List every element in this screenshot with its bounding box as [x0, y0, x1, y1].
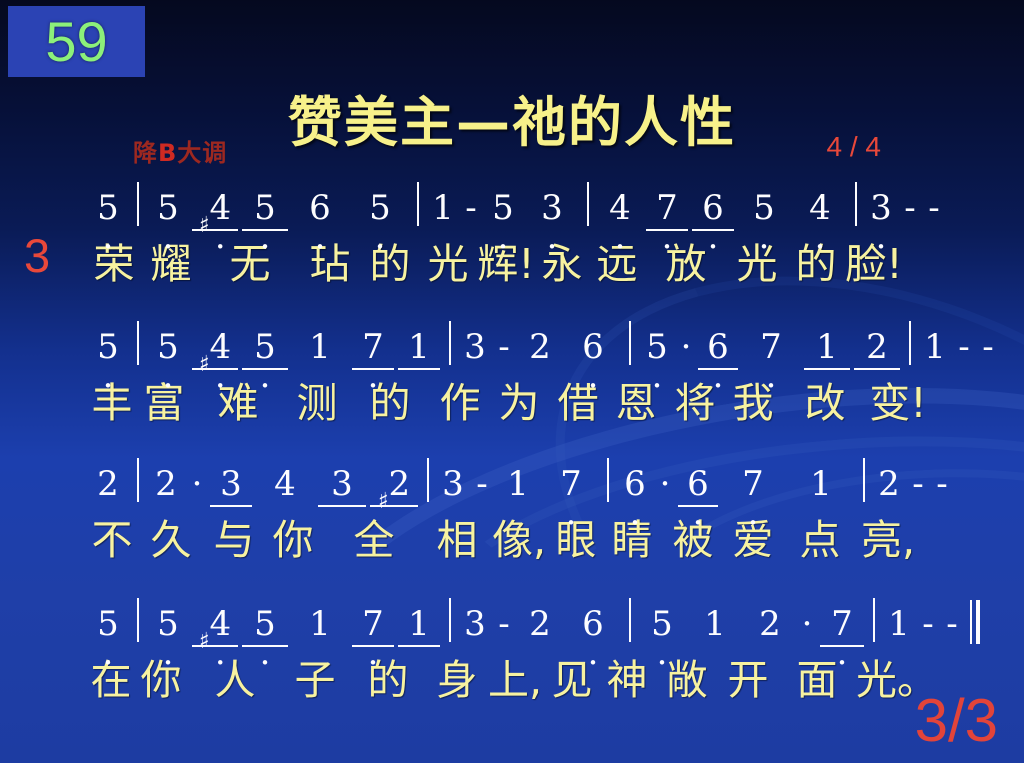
lyric-syllable: 的	[360, 230, 420, 290]
note-low-octave: 6	[702, 188, 724, 228]
barline	[137, 321, 139, 365]
note-low-octave: 4	[210, 188, 232, 228]
note-cell: 3	[524, 188, 580, 228]
note-low-octave: 5	[254, 327, 276, 367]
note-cell: -	[492, 327, 516, 367]
note-cell: 5	[240, 188, 290, 228]
note-cell: 1	[290, 604, 350, 644]
note-cell: ♯4	[190, 327, 240, 367]
note-cell: 5	[638, 327, 676, 367]
note-cell: 5	[350, 188, 410, 228]
note-cell: 6	[564, 604, 622, 644]
note-low-octave: 7	[760, 327, 782, 367]
note-low-octave: 7	[362, 604, 384, 644]
lyric-syllable: 开	[718, 646, 778, 706]
note-glyph: ·	[192, 464, 203, 504]
note-cell: 1	[426, 188, 460, 228]
time-signature-label: 4 / 4	[827, 131, 881, 163]
note-glyph: 1	[432, 188, 454, 228]
note-cell: 6	[564, 327, 622, 367]
lyric-syllable: 改	[782, 369, 868, 429]
note-low-octave: 6	[582, 327, 604, 367]
note-low-octave: 5	[157, 327, 179, 367]
lyric-syllable: 子	[284, 646, 346, 706]
note-glyph: 1	[810, 464, 832, 504]
note-cell: 1	[290, 327, 350, 367]
note-cell: 5	[240, 327, 290, 367]
barline	[137, 458, 139, 502]
note-low-octave: 3	[541, 188, 563, 228]
verse-number-label: 3	[24, 228, 50, 283]
note-low-octave: 6	[707, 327, 729, 367]
note-cell: -	[952, 327, 976, 367]
key-signature-letter: B	[158, 139, 177, 167]
note-glyph: 4	[274, 464, 296, 504]
barline	[607, 458, 609, 502]
note-cell: -	[460, 188, 482, 228]
note-glyph: 3	[442, 464, 464, 504]
note-glyph: 2	[389, 464, 411, 504]
music-system-3: 22·343♯23-176·6712-- 不久与你全相像,眼睛被爱点亮,	[86, 452, 954, 564]
beam-underline	[692, 229, 734, 231]
beam-underline	[192, 229, 238, 231]
note-cell: 5	[146, 604, 190, 644]
note-cell: 5	[482, 188, 524, 228]
note-glyph: 1	[408, 327, 430, 367]
note-glyph: -	[928, 188, 940, 228]
note-cell: -	[470, 464, 494, 504]
note-glyph: -	[922, 604, 934, 644]
note-cell: 5	[638, 604, 686, 644]
note-cell: -	[940, 604, 964, 644]
beam-underline	[352, 368, 394, 370]
note-glyph: -	[476, 464, 488, 504]
note-low-octave: 6	[687, 464, 709, 504]
note-glyph: -	[912, 464, 924, 504]
note-low-octave: 7	[742, 464, 764, 504]
note-low-octave: 4	[210, 327, 232, 367]
lyrics-row-3: 不久与你全相像,眼睛被爱点亮,	[86, 506, 954, 564]
note-cell: 3	[458, 327, 492, 367]
key-signature-label: 降B大调	[133, 133, 227, 168]
lyric-syllable: 的	[346, 646, 430, 706]
barline	[629, 598, 631, 642]
note-glyph: 1	[507, 464, 529, 504]
lyric-syllable: 难	[190, 369, 286, 429]
note-glyph: -	[946, 604, 958, 644]
beam-underline	[210, 505, 252, 507]
note-glyph: -	[936, 464, 948, 504]
page-number-text: 59	[45, 14, 107, 70]
note-low-octave: 5	[369, 188, 391, 228]
note-glyph: ·	[681, 327, 692, 367]
note-cell: 6	[690, 188, 736, 228]
note-cell: 1	[882, 604, 916, 644]
barline	[909, 321, 911, 365]
note-cell: 7	[350, 327, 396, 367]
barline	[137, 598, 139, 642]
note-low-octave: 7	[831, 604, 853, 644]
beam-underline	[192, 645, 238, 647]
page-number-badge: 59	[8, 6, 145, 77]
note-low-octave: 5	[97, 327, 119, 367]
note-cell: 4	[254, 464, 316, 504]
note-cell: 7	[644, 188, 690, 228]
note-glyph: 1	[704, 604, 726, 644]
barline	[427, 458, 429, 502]
note-glyph: -	[904, 188, 916, 228]
note-cell: 1	[494, 464, 542, 504]
slide-canvas: 59 赞美主—祂的人性 降B大调 4 / 4 3 55♯45651-534765…	[0, 0, 1024, 763]
note-cell: 4	[596, 188, 644, 228]
note-glyph: -	[982, 327, 994, 367]
note-low-octave: 5	[254, 604, 276, 644]
note-cell: 6	[616, 464, 654, 504]
note-glyph: -	[498, 327, 510, 367]
note-cell: 1	[786, 464, 856, 504]
note-low-octave: 4	[210, 604, 232, 644]
note-cell: 2	[744, 604, 796, 644]
note-low-octave: 3	[870, 188, 892, 228]
note-low-octave: 5	[97, 604, 119, 644]
note-cell: ·	[654, 464, 676, 504]
note-low-octave: 5	[157, 604, 179, 644]
note-cell: 7	[350, 604, 396, 644]
note-cell: 5	[86, 327, 130, 367]
note-low-octave: 5	[646, 327, 668, 367]
beam-underline	[854, 368, 900, 370]
note-glyph: 1	[888, 604, 910, 644]
note-glyph: 3	[220, 464, 242, 504]
note-low-octave: 7	[656, 188, 678, 228]
beam-underline	[242, 368, 288, 370]
note-cell: 2	[146, 464, 186, 504]
key-signature-suffix: 大调	[177, 139, 227, 167]
barline	[137, 182, 139, 226]
note-cell: 3	[864, 188, 898, 228]
note-low-octave: 4	[809, 188, 831, 228]
note-low-octave: 5	[254, 188, 276, 228]
lyric-syllable: 脸!	[844, 230, 904, 290]
note-low-octave: 7	[362, 327, 384, 367]
notation-row-2: 55♯451713-265·67121--	[86, 315, 954, 367]
music-system-2: 55♯451713-265·67121-- 丰富难测的作为借恩将我改变!	[86, 315, 954, 427]
barline	[873, 598, 875, 642]
note-cell: 2	[86, 464, 130, 504]
beam-underline	[370, 505, 418, 507]
note-cell: 5	[146, 188, 190, 228]
note-cell: 2	[872, 464, 906, 504]
note-glyph: -	[498, 604, 510, 644]
note-cell: -	[930, 464, 954, 504]
note-cell: -	[976, 327, 1000, 367]
note-cell: 5	[86, 604, 130, 644]
music-system-4: 55♯451713-26512·71-- 在你人子的身上,见神敞开面光。	[86, 592, 954, 704]
note-glyph: 1	[309, 604, 331, 644]
lyric-syllable: 你	[264, 506, 322, 566]
page-fraction-label: 3/3	[915, 686, 998, 755]
note-cell: ·	[796, 604, 818, 644]
beam-underline	[242, 645, 288, 647]
note-low-octave: 5	[97, 188, 119, 228]
beam-underline	[398, 368, 440, 370]
note-glyph: 3	[464, 327, 486, 367]
music-system-1: 55♯45651-53476543-- 荣耀无玷的光辉!永远放光的脸!	[86, 176, 954, 288]
beam-underline	[646, 229, 688, 231]
lyric-syllable: 的	[348, 369, 432, 429]
barline	[587, 182, 589, 226]
note-cell: 1	[802, 327, 852, 367]
note-cell: 5	[146, 327, 190, 367]
note-glyph: 1	[816, 327, 838, 367]
note-glyph: 3	[464, 604, 486, 644]
barline	[417, 182, 419, 226]
note-glyph: ·	[660, 464, 671, 504]
note-cell: 6	[696, 327, 740, 367]
beam-underline	[242, 229, 288, 231]
note-low-octave: 5	[651, 604, 673, 644]
notation-row-1: 55♯45651-53476543--	[86, 176, 954, 228]
lyric-syllable: 点	[782, 506, 858, 566]
note-glyph: 2	[529, 604, 551, 644]
note-glyph: 1	[408, 604, 430, 644]
lyric-syllable: 相	[426, 506, 488, 566]
note-cell: -	[492, 604, 516, 644]
lyric-syllable: 光	[420, 230, 476, 290]
note-glyph: 1	[309, 327, 331, 367]
lyric-syllable: 神	[598, 646, 656, 706]
note-low-octave: 6	[309, 188, 331, 228]
lyric-syllable: 测	[286, 369, 348, 429]
note-cell: -	[922, 188, 946, 228]
lyric-syllable: 光	[726, 230, 788, 290]
beam-underline	[398, 645, 440, 647]
note-glyph: 2	[759, 604, 781, 644]
barline	[449, 321, 451, 365]
note-glyph: ·	[802, 604, 813, 644]
note-cell: 4	[792, 188, 848, 228]
note-glyph: -	[958, 327, 970, 367]
note-glyph: 3	[331, 464, 353, 504]
lyric-syllable: 全	[322, 506, 426, 566]
note-cell: 3	[208, 464, 254, 504]
note-cell: 3	[316, 464, 368, 504]
note-cell: 7	[740, 327, 802, 367]
barline	[855, 182, 857, 226]
note-glyph: 2	[155, 464, 177, 504]
note-cell: -	[906, 464, 930, 504]
note-cell: 2	[852, 327, 902, 367]
note-cell: 1	[396, 604, 442, 644]
note-cell: 1	[686, 604, 744, 644]
note-low-octave: 5	[157, 188, 179, 228]
lyric-syllable: 作	[432, 369, 488, 429]
lyric-syllable: 你	[136, 646, 186, 706]
note-cell: 5	[86, 188, 130, 228]
barline	[863, 458, 865, 502]
note-cell: 6	[290, 188, 350, 228]
note-low-octave: 5	[492, 188, 514, 228]
beam-underline	[820, 645, 864, 647]
lyric-syllable: 永	[536, 230, 588, 290]
note-glyph: 2	[97, 464, 119, 504]
note-cell: 3	[436, 464, 470, 504]
barline	[629, 321, 631, 365]
lyric-syllable: 荣	[86, 230, 142, 290]
lyric-syllable: 光。	[856, 646, 916, 706]
note-cell: 7	[720, 464, 786, 504]
note-cell: 7	[818, 604, 866, 644]
lyric-syllable: 身	[430, 646, 484, 706]
lyric-syllable: 玷	[300, 230, 360, 290]
lyric-syllable: 上,	[484, 646, 546, 706]
beam-underline	[352, 645, 394, 647]
note-cell: ♯4	[190, 604, 240, 644]
note-glyph: 1	[924, 327, 946, 367]
note-cell: ·	[186, 464, 208, 504]
beam-underline	[192, 368, 238, 370]
lyric-syllable: 久	[138, 506, 204, 566]
notation-row-3: 22·343♯23-176·6712--	[86, 452, 954, 504]
lyric-syllable: 为	[488, 369, 550, 429]
note-cell: 2	[516, 604, 564, 644]
note-low-octave: 6	[582, 604, 604, 644]
note-low-octave: 5	[753, 188, 775, 228]
note-cell: -	[898, 188, 922, 228]
note-cell: 5	[736, 188, 792, 228]
note-glyph: -	[465, 188, 477, 228]
beam-underline	[804, 368, 850, 370]
final-barline	[970, 600, 980, 644]
note-low-octave: 7	[560, 464, 582, 504]
note-cell: ·	[676, 327, 696, 367]
note-cell: 6	[676, 464, 720, 504]
note-cell: 2	[516, 327, 564, 367]
beam-underline	[698, 368, 738, 370]
lyric-syllable: 像,	[488, 506, 550, 566]
note-cell: 3	[458, 604, 492, 644]
note-cell: 7	[542, 464, 600, 504]
note-cell: 1	[396, 327, 442, 367]
note-low-octave: 6	[624, 464, 646, 504]
lyric-syllable: 亮,	[858, 506, 918, 566]
note-glyph: 2	[866, 327, 888, 367]
note-glyph: 2	[878, 464, 900, 504]
note-cell: 5	[240, 604, 290, 644]
lyric-syllable: 不	[86, 506, 138, 566]
note-cell: 1	[918, 327, 952, 367]
notation-row-4: 55♯451713-26512·71--	[86, 592, 954, 644]
key-signature-prefix: 降	[133, 139, 158, 167]
note-low-octave: 4	[609, 188, 631, 228]
beam-underline	[678, 505, 718, 507]
note-cell: ♯4	[190, 188, 240, 228]
lyric-syllable: 变!	[868, 369, 928, 429]
lyric-syllable: 与	[204, 506, 264, 566]
beam-underline	[318, 505, 366, 507]
note-cell: ♯2	[368, 464, 420, 504]
note-glyph: 2	[529, 327, 551, 367]
note-cell: -	[916, 604, 940, 644]
barline	[449, 598, 451, 642]
